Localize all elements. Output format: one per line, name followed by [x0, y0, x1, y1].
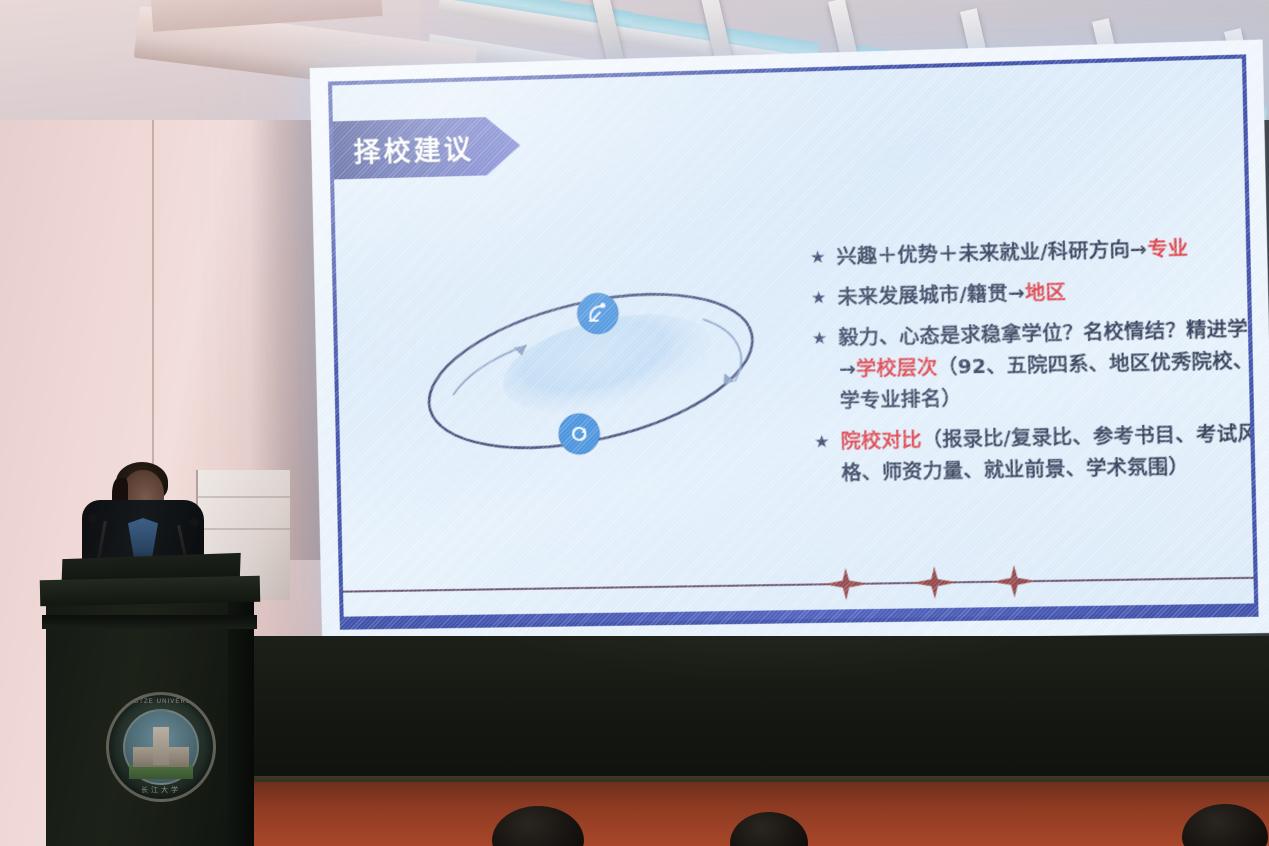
- yangtze-university-seal: YANGTZE UNIVERSITY 长江大学: [106, 692, 216, 802]
- microphone-head: [190, 518, 199, 527]
- seal-lawn: [129, 765, 193, 779]
- highlighted-term: 院校对比: [840, 428, 922, 453]
- seal-text-bottom: 长江大学: [109, 785, 213, 795]
- bullet-segment: 兴趣＋优势＋未来就业/科研方向→: [836, 237, 1147, 268]
- board-line: [198, 496, 290, 498]
- satellite-dish-icon: [577, 293, 618, 334]
- slide-title-ribbon: 择校建议: [332, 116, 521, 179]
- bullet-text: 未来发展城市/籍贯→地区: [837, 271, 1254, 313]
- orbit-decoration: [398, 271, 783, 471]
- bullet-item: ★毅力、心态是求稳拿学位？名校情结？精进学术→学校层次（92、五院四系、地区优秀…: [811, 312, 1254, 417]
- bullet-segment: 未来发展城市/籍贯→: [837, 281, 1025, 309]
- slide-title: 择校建议: [353, 127, 474, 169]
- podium-lip: [42, 615, 257, 629]
- bottom-rule: [343, 578, 1253, 592]
- bullet-star-icon: ★: [814, 426, 841, 458]
- projection-screen: 择校建议: [310, 40, 1269, 646]
- seal-text-top: YANGTZE UNIVERSITY: [109, 699, 213, 705]
- board-line: [198, 528, 290, 530]
- bullet-text: 兴趣＋优势＋未来就业/科研方向→专业: [836, 230, 1254, 272]
- bullet-text: 院校对比（报录比/复录比、参考书目、考试风格、师资力量、就业前景、学术氛围）: [840, 417, 1254, 489]
- highlighted-term: 学校层次: [856, 356, 938, 381]
- refresh-link-icon: [559, 413, 600, 454]
- bullet-item: ★未来发展城市/籍贯→地区: [810, 271, 1254, 314]
- highlighted-term: 地区: [1025, 280, 1066, 304]
- seal-inner-disc: [123, 709, 199, 785]
- bullet-star-icon: ★: [810, 282, 837, 314]
- slide-bottom-bar: [344, 603, 1255, 625]
- bullet-star-icon: ★: [811, 322, 838, 354]
- bullet-star-icon: ★: [810, 241, 837, 273]
- podium-top-ledge: [40, 576, 260, 607]
- bullet-text: 毅力、心态是求稳拿学位？名校情结？精进学术→学校层次（92、五院四系、地区优秀院…: [838, 312, 1254, 416]
- seal-tower: [153, 727, 169, 765]
- presentation-slide: 择校建议: [328, 54, 1259, 629]
- highlighted-term: 专业: [1147, 236, 1189, 261]
- podium-side-panel: [228, 596, 254, 846]
- lower-dark-wall: [252, 636, 1269, 786]
- sparkle-marker: [991, 565, 1037, 598]
- microphone-head: [88, 514, 97, 523]
- bottom-decoration: [343, 557, 1254, 607]
- sparkle-marker: [911, 566, 957, 599]
- bullet-list: ★兴趣＋优势＋未来就业/科研方向→专业★未来发展城市/籍贯→地区★毅力、心态是求…: [810, 230, 1255, 498]
- lecture-hall-scene: 择校建议: [0, 0, 1269, 846]
- bullet-item: ★院校对比（报录比/复录比、参考书目、考试风格、师资力量、就业前景、学术氛围）: [814, 417, 1255, 489]
- sparkle-marker: [823, 567, 869, 600]
- bullet-item: ★兴趣＋优势＋未来就业/科研方向→专业: [810, 230, 1255, 273]
